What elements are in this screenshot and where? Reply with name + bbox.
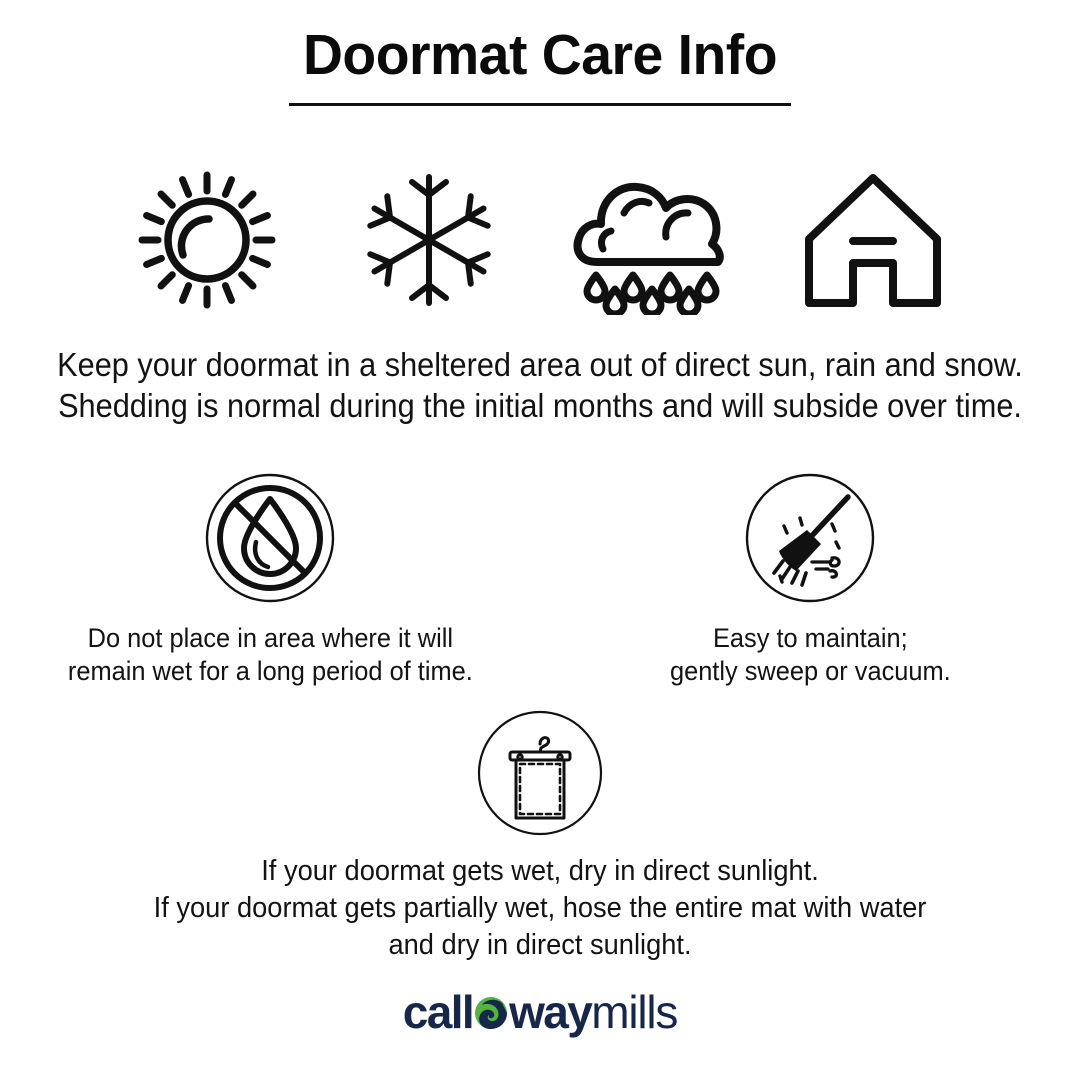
care-caption: Do not place in area where it will remai… — [55, 622, 486, 688]
doormat-care-info-graphic: Doormat Care Info — [0, 0, 1080, 1080]
weather-icon-cell — [540, 152, 762, 327]
intro-paragraph: Keep your doormat in a sheltered area ou… — [0, 344, 1080, 426]
dry-line-1: If your doormat gets wet, dry in direct … — [154, 853, 927, 890]
logo-text-mills: mills — [591, 985, 677, 1039]
sun-icon — [132, 165, 282, 315]
dry-instructions: If your doormat gets wet, dry in direct … — [0, 705, 1080, 964]
care-icon-wrap — [204, 468, 336, 608]
care-icon-wrap — [744, 468, 876, 608]
weather-icon-cell — [96, 152, 318, 327]
logo-text-way: way — [509, 985, 591, 1039]
intro-line-2: Shedding is normal during the initial mo… — [38, 385, 1042, 426]
title-divider — [289, 103, 791, 106]
rain-cloud-icon — [565, 165, 737, 315]
dry-icon-wrap — [475, 705, 605, 841]
care-line-1: Do not place in area where it will — [68, 622, 473, 655]
care-caption: Easy to maintain; gently sweep or vacuum… — [661, 622, 960, 688]
logo-text-call: call — [403, 985, 473, 1039]
care-line-1: Easy to maintain; — [670, 622, 951, 655]
intro-line-1: Keep your doormat in a sheltered area ou… — [38, 344, 1042, 385]
weather-icon-cell — [318, 152, 540, 327]
logo-wordmark: call way mills — [403, 985, 677, 1039]
brand-logo: call way mills — [0, 985, 1080, 1039]
broom-sweep-icon — [744, 472, 876, 604]
dry-line-3: and dry in direct sunlight. — [154, 927, 927, 964]
no-water-icon — [204, 472, 336, 604]
weather-icon-cell — [762, 152, 984, 327]
care-line-2: remain wet for a long period of time. — [68, 655, 473, 688]
care-tip-no-water: Do not place in area where it will remai… — [0, 468, 540, 688]
logo-o-mark-icon — [474, 987, 508, 1021]
header: Doormat Care Info — [0, 26, 1080, 106]
house-shelter-icon — [795, 165, 951, 315]
snowflake-icon — [354, 165, 504, 315]
weather-icon-row — [0, 152, 1080, 327]
page-title: Doormat Care Info — [16, 26, 1064, 86]
care-tip-sweep: Easy to maintain; gently sweep or vacuum… — [540, 468, 1080, 688]
hang-to-dry-icon — [475, 708, 605, 838]
dry-line-2: If your doormat gets partially wet, hose… — [154, 890, 927, 927]
care-line-2: gently sweep or vacuum. — [670, 655, 951, 688]
dry-caption: If your doormat gets wet, dry in direct … — [129, 853, 951, 964]
care-tips-row: Do not place in area where it will remai… — [0, 468, 1080, 688]
